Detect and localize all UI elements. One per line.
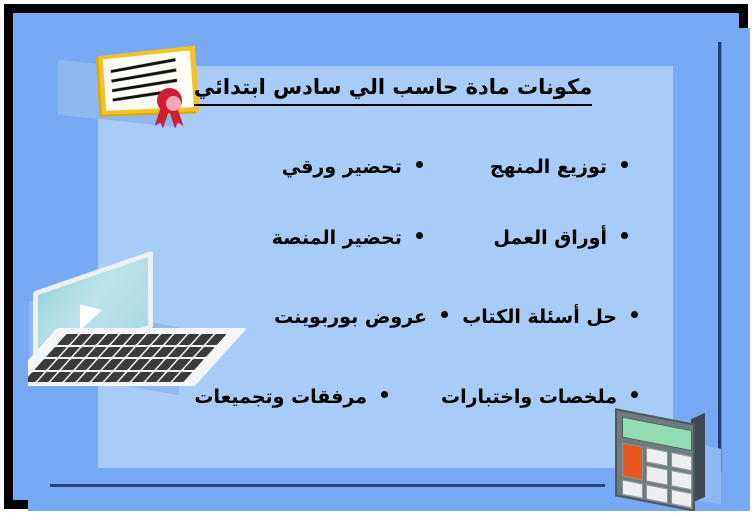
bullet-item-right: ملخصات واختبارات [388,386,638,408]
calculator-key [646,447,667,466]
bullet-label: تحضير المنصة [272,227,402,249]
play-icon [80,297,102,331]
page-title: مكونات مادة حاسب الي سادس ابتدائي [173,74,613,106]
calculator-key [622,479,643,498]
calculator-key [671,470,692,489]
bullet-row: أوراق العمل تحضير المنصة [208,227,628,249]
calculator-body [615,408,695,511]
calculator-icon [603,410,723,510]
bullet-dot-icon [381,391,388,398]
calculator-key [671,489,692,508]
bullet-dot-icon [621,161,628,168]
calculator-keypad [622,443,692,509]
bullet-item-right: أوراق العمل [423,227,628,249]
bullet-row: حل أسئلة الكتاب عروض بوربوينت [198,306,638,328]
bullet-dot-icon [631,311,638,318]
slide-canvas: مكونات مادة حاسب الي سادس ابتدائي توزيع … [28,28,750,511]
calculator-key [671,452,692,471]
page-title-text: مكونات مادة حاسب الي سادس ابتدائي [194,74,593,106]
bullet-label: عروض بوربوينت [274,306,427,328]
bullet-item-right: حل أسئلة الكتاب [448,306,638,328]
bullet-label: حل أسئلة الكتاب [462,306,617,328]
calculator-key [646,484,667,503]
calculator-accent-key [622,443,643,481]
right-vertical-accent-line [718,42,722,472]
laptop-video-icon [28,266,233,391]
slide-black-border: مكونات مادة حاسب الي سادس ابتدائي توزيع … [4,4,748,509]
calculator-key [646,466,667,485]
bullet-label: ملخصات واختبارات [441,386,617,408]
slide-frame: مكونات مادة حاسب الي سادس ابتدائي توزيع … [0,0,752,513]
bullet-label: توزيع المنهج [490,156,607,178]
bullet-dot-icon [621,232,628,239]
bullet-dot-icon [416,232,423,239]
bullet-item-right: توزيع المنهج [423,156,628,178]
bullet-dot-icon [441,311,448,318]
bullet-dot-icon [416,161,423,168]
bullet-item-left: تحضير ورقي [208,156,423,178]
bullet-label: أوراق العمل [494,227,607,249]
bullet-dot-icon [631,391,638,398]
bottom-horizontal-accent-line [50,484,605,487]
bullet-item-left: تحضير المنصة [208,227,423,249]
bullet-item-left: عروض بوربوينت [218,306,448,328]
bullet-row: توزيع المنهج تحضير ورقي [208,156,628,178]
bullet-label: تحضير ورقي [282,156,402,178]
